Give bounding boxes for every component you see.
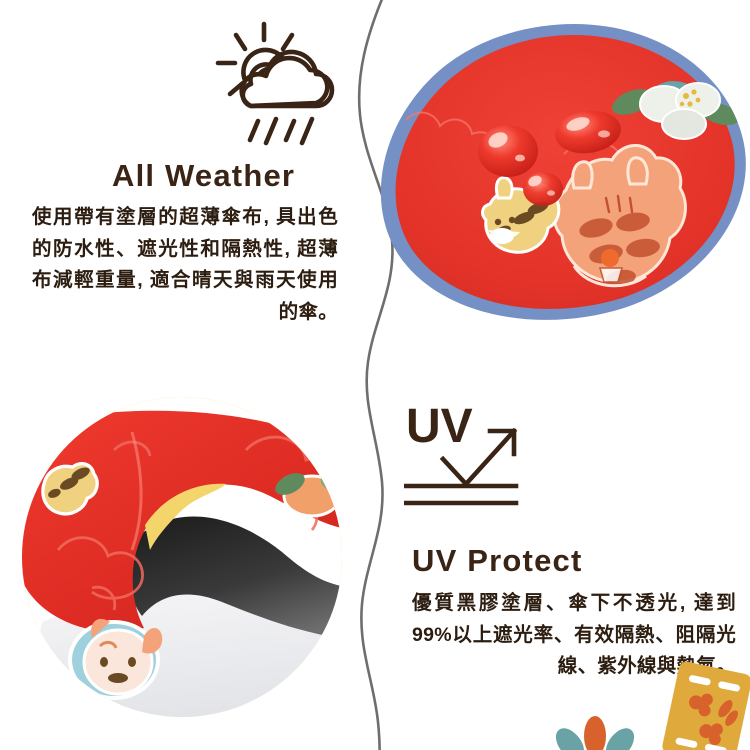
fold-photo — [0, 392, 372, 722]
petal-decoration — [552, 700, 638, 750]
page-title-all-weather: All Weather — [0, 159, 352, 193]
product-feature-poster: All Weather 使用帶有塗層的超薄傘布, 具出色的防水性、遮光性和隔熱性… — [0, 0, 750, 750]
uv-icon-label: UV — [406, 400, 473, 453]
uv-reflect-icon: UV — [404, 398, 536, 516]
sun-cloud-rain-icon — [196, 18, 346, 153]
section-uv-protect: UV UV Protect 優質黑膠塗層、傘下不透光, 達到99%以上遮光率、有… — [404, 398, 750, 683]
droplets-photo — [378, 22, 750, 322]
section-all-weather: All Weather 使用帶有塗層的超薄傘布, 具出色的防水性、遮光性和隔熱性… — [0, 18, 352, 328]
body-text-all-weather: 使用帶有塗層的超薄傘布, 具出色的防水性、遮光性和隔熱性, 超薄布減輕重量, 適… — [0, 202, 352, 328]
gold-tag-decoration — [660, 662, 750, 750]
page-title-uv-protect: UV Protect — [404, 544, 750, 578]
